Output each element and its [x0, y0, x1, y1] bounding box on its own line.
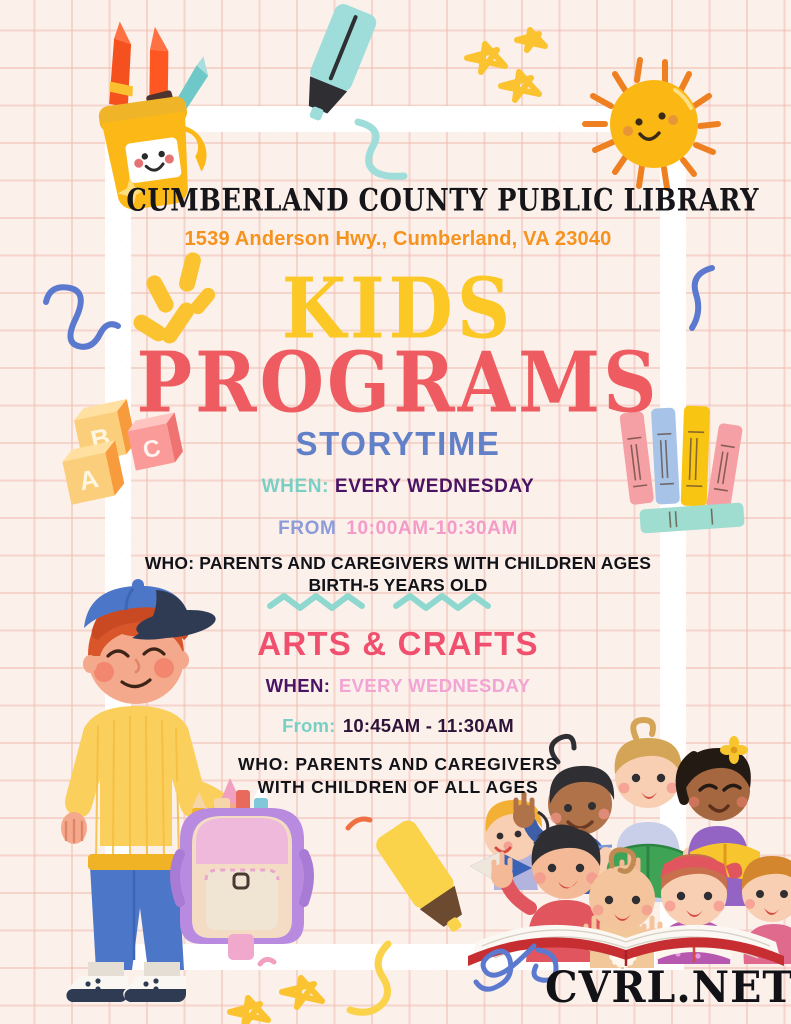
library-address: 1539 Anderson Hwy., Cumberland, VA 23040 [118, 228, 678, 251]
stars-bottom-icon [222, 958, 352, 1024]
program-1-who-line-1: WHO: PARENTS AND CAREGIVERS WITH CHILDRE… [110, 552, 686, 574]
stars-top-icon [455, 18, 565, 108]
zigzag-divider [268, 590, 528, 614]
program-2-who-line-2: WITH CHILDREN OF ALL AGES [118, 776, 678, 799]
program-1-title: STORYTIME [118, 425, 678, 463]
title-line-2: PROGRAMS [118, 342, 678, 425]
library-name: CUMBERLAND COUNTY PUBLIC LIBRARY [126, 182, 669, 219]
program-1-when-label: WHEN: [262, 476, 329, 497]
program-2-title: ARTS & CRAFTS [118, 625, 678, 663]
program-1-from-value: 10:00AM-10:30AM [342, 518, 518, 539]
program-2-from-value: 10:45AM - 11:30AM [341, 715, 514, 736]
program-2-from-label: From: [282, 715, 335, 736]
program-2-when-label: WHEN: [266, 675, 331, 696]
program-1-when-row: WHEN: EVERY WEDNESDAY [118, 476, 678, 498]
flyer-text-content: CUMBERLAND COUNTY PUBLIC LIBRARY 1539 An… [118, 120, 678, 950]
program-1-from-row: FROM 10:00AM-10:30AM [118, 518, 678, 540]
program-2-when-row: WHEN: EVERY WEDNESDAY [118, 675, 678, 697]
blue-squiggle-right-icon [672, 258, 742, 348]
flyer-canvas: B A C [0, 0, 791, 1024]
program-2-who-line-1: WHO: PARENTS AND CAREGIVERS [118, 753, 678, 776]
program-2-when-value: EVERY WEDNESDAY [336, 675, 530, 696]
program-2-from-row: From: 10:45AM - 11:30AM [118, 715, 678, 737]
program-2-who: WHO: PARENTS AND CAREGIVERS WITH CHILDRE… [118, 753, 678, 799]
website-url[interactable]: CVRL.NET [545, 962, 791, 1013]
program-1-when-value: EVERY WEDNESDAY [335, 476, 534, 497]
program-1-from-label: FROM [278, 518, 336, 539]
